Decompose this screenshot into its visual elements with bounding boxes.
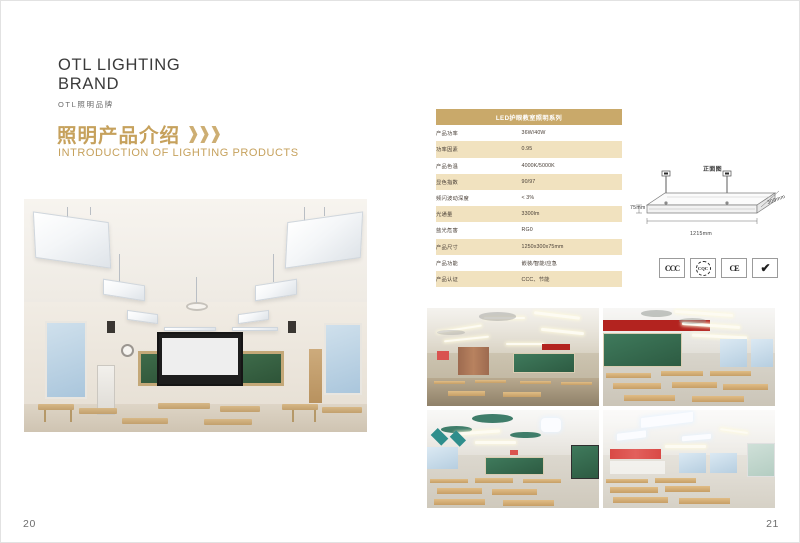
window [679, 453, 707, 473]
spec-label: 功率因素 [436, 141, 522, 157]
spec-table-row: 频闪波动深度< 3% [436, 190, 622, 206]
panel-rod [90, 207, 91, 215]
ce-badge: CE [721, 258, 747, 278]
headline-chinese-text: 照明产品介绍 [57, 119, 180, 148]
ceiling-fan [641, 310, 672, 317]
door [309, 349, 322, 403]
fan-rod [196, 277, 197, 303]
brand-block: OTL LIGHTING BRAND OTL照明品牌 [58, 56, 180, 110]
blackboard-light [232, 327, 278, 331]
spec-value: 36W/40W [522, 125, 622, 141]
desk [158, 403, 210, 409]
desk [503, 500, 555, 506]
panel-rod [324, 207, 325, 216]
desk-leg [292, 410, 294, 422]
cqc-badge-label: CQC [696, 261, 711, 276]
brand-subtitle-cn: OTL照明品牌 [58, 99, 180, 110]
cqc-badge: CQC [690, 258, 716, 278]
spec-label: 产品认证 [436, 271, 522, 287]
wall-poster-row [610, 449, 662, 459]
desk [79, 408, 117, 414]
ceiling-fan [679, 318, 707, 324]
tube-light [665, 445, 706, 447]
spec-label: 产品功率 [436, 125, 522, 141]
page-number-right: 21 [766, 518, 779, 530]
desk-leg [44, 410, 46, 422]
spec-table-row: 产品认证CCC、节能 [436, 271, 622, 287]
desk [448, 391, 486, 395]
ceiling-fan [472, 414, 513, 423]
photo-classroom-blackboard [603, 308, 775, 406]
desk [679, 498, 731, 504]
desk [434, 499, 486, 505]
ceiling-fan [479, 312, 517, 321]
desk [610, 487, 658, 492]
desk [606, 479, 647, 484]
spec-label: 频闪波动深度 [436, 190, 522, 206]
window-left [45, 321, 87, 399]
spec-value: 90/97 [522, 174, 622, 190]
spec-table-row: 产品尺寸1250x300x75mm [436, 239, 622, 255]
pendant-lamp [541, 418, 562, 432]
brand-line-1: OTL LIGHTING [58, 56, 180, 75]
desk [692, 396, 744, 402]
product-front-view-diagram: 正面图 1215mm 300mm 75mm [629, 159, 797, 249]
spec-table-row: 显色指数90/97 [436, 174, 622, 190]
headline-chinese: 照明产品介绍 ❱❱❱ [57, 119, 220, 148]
photo-classroom-green-fans [427, 410, 599, 508]
panel-rod [273, 254, 274, 282]
window [427, 447, 458, 469]
desk [220, 406, 260, 412]
ceiling-fan [186, 302, 208, 311]
window [720, 339, 748, 366]
desk-leg [70, 410, 72, 422]
red-banner [542, 344, 570, 350]
check-badge-label: ✔ [760, 262, 769, 274]
desk [606, 373, 651, 378]
ce-badge-label: CE [729, 264, 738, 273]
wall-poster [510, 450, 519, 455]
desk [523, 479, 561, 484]
desk [282, 404, 318, 410]
window-right [324, 323, 362, 395]
spec-label: 光通量 [436, 206, 522, 222]
spec-value: 1250x300x75mm [522, 239, 622, 255]
desk [672, 382, 717, 387]
spec-table-row: 产品功率36W/40W [436, 125, 622, 141]
whiteboard [610, 461, 665, 474]
right-page: LED护眼教室照明系列 产品功率36W/40W功率因素0.95产品色温4000K… [401, 1, 800, 543]
desk [434, 381, 465, 385]
ccc-badge: CCC [659, 258, 685, 278]
spec-value: 嵌装/智能/应急 [522, 255, 622, 271]
spec-value: 0.95 [522, 141, 622, 157]
spec-table-title: LED护眼教室照明系列 [436, 109, 622, 125]
desk [475, 380, 506, 384]
spec-label: 产品尺寸 [436, 239, 522, 255]
diagram-width-label: 1215mm [690, 231, 712, 237]
desk [624, 395, 676, 401]
desk [322, 407, 362, 413]
spec-value: CCC、节能 [522, 271, 622, 287]
chalkboard [603, 333, 682, 366]
check-badge: ✔ [752, 258, 778, 278]
window [751, 339, 773, 366]
desk [520, 381, 551, 385]
desk [655, 478, 696, 483]
brand-line-2: BRAND [58, 75, 180, 94]
tube-light [506, 343, 544, 345]
desk [437, 488, 482, 493]
desk [561, 382, 592, 386]
spec-table-row: 产品功能嵌装/智能/应急 [436, 255, 622, 271]
left-page: OTL LIGHTING BRAND OTL照明品牌 照明产品介绍 ❱❱❱ IN… [1, 1, 401, 543]
spec-value: RG0 [522, 222, 622, 238]
photo-classroom-modern-panel [603, 410, 775, 508]
classroom-3d-render [24, 199, 367, 432]
chalkboard [485, 457, 543, 475]
spec-label: 产品色温 [436, 158, 522, 174]
panel-rod [119, 254, 120, 282]
chalkboard-right [238, 351, 284, 386]
wall-speaker-right [288, 321, 296, 333]
side-board [571, 445, 599, 478]
certification-badges: CCC CQC CE ✔ [659, 258, 778, 278]
tube-light [475, 441, 516, 443]
spec-label: 显色指数 [436, 174, 522, 190]
chevrons-icon: ❱❱❱ [186, 124, 220, 144]
desk [723, 384, 768, 389]
catalog-spread: OTL LIGHTING BRAND OTL照明品牌 照明产品介绍 ❱❱❱ IN… [0, 0, 800, 543]
diagram-view-label: 正面图 [703, 164, 722, 173]
spec-table-row: 功率因素0.95 [436, 141, 622, 157]
desk [475, 478, 513, 483]
wall-poster [437, 351, 449, 360]
specification-table: LED护眼教室照明系列 产品功率36W/40W功率因素0.95产品色温4000K… [436, 109, 622, 287]
whiteboard-side [747, 443, 775, 476]
headline-english: INTRODUCTION OF LIGHTING PRODUCTS [58, 147, 299, 159]
desk [503, 392, 541, 396]
desk-leg [314, 410, 316, 422]
wall-clock [121, 344, 134, 357]
spec-value: 3300lm [522, 206, 622, 222]
chalkboard [513, 353, 575, 373]
desk [204, 419, 252, 425]
desk [661, 371, 702, 376]
photo-grid [427, 308, 775, 508]
spec-label: 产品功能 [436, 255, 522, 271]
photo-classroom-tube-lights [427, 308, 599, 406]
desk [710, 371, 751, 376]
spec-label: 蓝光危害 [436, 222, 522, 238]
desk [613, 383, 661, 388]
desk [122, 418, 168, 424]
diagram-height-label: 75mm [630, 205, 646, 211]
spec-table-row: 光通量3300lm [436, 206, 622, 222]
desk [613, 497, 668, 503]
desk [665, 486, 710, 491]
page-number-left: 20 [23, 518, 36, 530]
projector-screen [157, 332, 243, 386]
blackboard-light [164, 327, 216, 331]
spec-table-row: 蓝光危害RG0 [436, 222, 622, 238]
curtain [458, 347, 489, 374]
spec-value: 4000K/5000K [522, 158, 622, 174]
ccc-badge-label: CCC [665, 264, 679, 273]
wall-speaker-left [107, 321, 115, 333]
desk [492, 489, 537, 494]
spec-value: < 3% [522, 190, 622, 206]
window [710, 453, 738, 473]
spec-table-row: 产品色温4000K/5000K [436, 158, 622, 174]
desk [430, 479, 468, 484]
